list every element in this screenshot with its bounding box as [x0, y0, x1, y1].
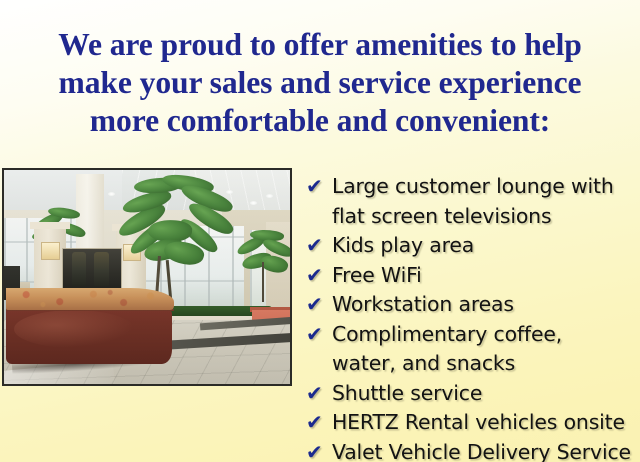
list-item: ✔ Kids play area: [306, 231, 640, 261]
check-icon: ✔: [306, 231, 332, 261]
photo-pier-cap-left: [30, 222, 70, 229]
check-icon: ✔: [306, 408, 332, 438]
list-item-line-2: water, and snacks: [332, 351, 515, 375]
list-item-label: Shuttle service: [332, 379, 640, 409]
photo-reception-desk-counter: [6, 288, 174, 310]
photo-sculpture: [94, 252, 109, 286]
list-item-label: Kids play area: [332, 231, 640, 261]
check-icon: ✔: [306, 320, 332, 350]
page-title: We are proud to offer amenities to help …: [0, 26, 640, 140]
slide-root: We are proud to offer amenities to help …: [0, 0, 640, 462]
list-item-label: HERTZ Rental vehicles onsite: [332, 408, 640, 438]
page-title-line-1: We are proud to offer amenities to help: [0, 26, 640, 64]
check-icon: ✔: [306, 261, 332, 291]
list-item-label: Large customer lounge with flat screen t…: [332, 172, 640, 231]
list-item-line-1: Large customer lounge with: [332, 174, 614, 198]
check-icon: ✔: [306, 379, 332, 409]
photo-downlight: [108, 192, 115, 196]
list-item-label: Workstation areas: [332, 290, 640, 320]
photo-downlight: [250, 201, 257, 205]
photo-sculpture: [72, 252, 86, 286]
list-item-line-1: Complimentary coffee,: [332, 322, 562, 346]
lobby-photo-image: [4, 170, 290, 384]
amenities-list: ✔ Large customer lounge with flat screen…: [306, 172, 640, 462]
photo-reception-desk-highlight: [14, 310, 134, 348]
check-icon: ✔: [306, 172, 332, 202]
photo-palm-trunk: [262, 262, 264, 302]
list-item-label: Free WiFi: [332, 261, 640, 291]
check-icon: ✔: [306, 438, 332, 462]
list-item: ✔ Large customer lounge with flat screen…: [306, 172, 640, 231]
photo-display-niche: [62, 248, 122, 290]
photo-wall-sconce: [41, 242, 60, 260]
page-title-line-3: more comfortable and convenient:: [0, 102, 640, 140]
list-item: ✔ Workstation areas: [306, 290, 640, 320]
list-item-label: Complimentary coffee, water, and snacks: [332, 320, 640, 379]
lobby-photo: [2, 168, 292, 386]
list-item-label: Valet Vehicle Delivery Service: [332, 438, 640, 462]
list-item: ✔ Shuttle service: [306, 379, 640, 409]
check-icon: ✔: [306, 290, 332, 320]
photo-palm-center: [116, 176, 238, 268]
list-item-line-2: flat screen televisions: [332, 204, 551, 228]
list-item: ✔ Complimentary coffee, water, and snack…: [306, 320, 640, 379]
list-item: ✔ Valet Vehicle Delivery Service: [306, 438, 640, 462]
list-item: ✔ Free WiFi: [306, 261, 640, 291]
page-title-line-2: make your sales and service experience: [0, 64, 640, 102]
list-item: ✔ HERTZ Rental vehicles onsite: [306, 408, 640, 438]
photo-downlight: [266, 194, 273, 198]
